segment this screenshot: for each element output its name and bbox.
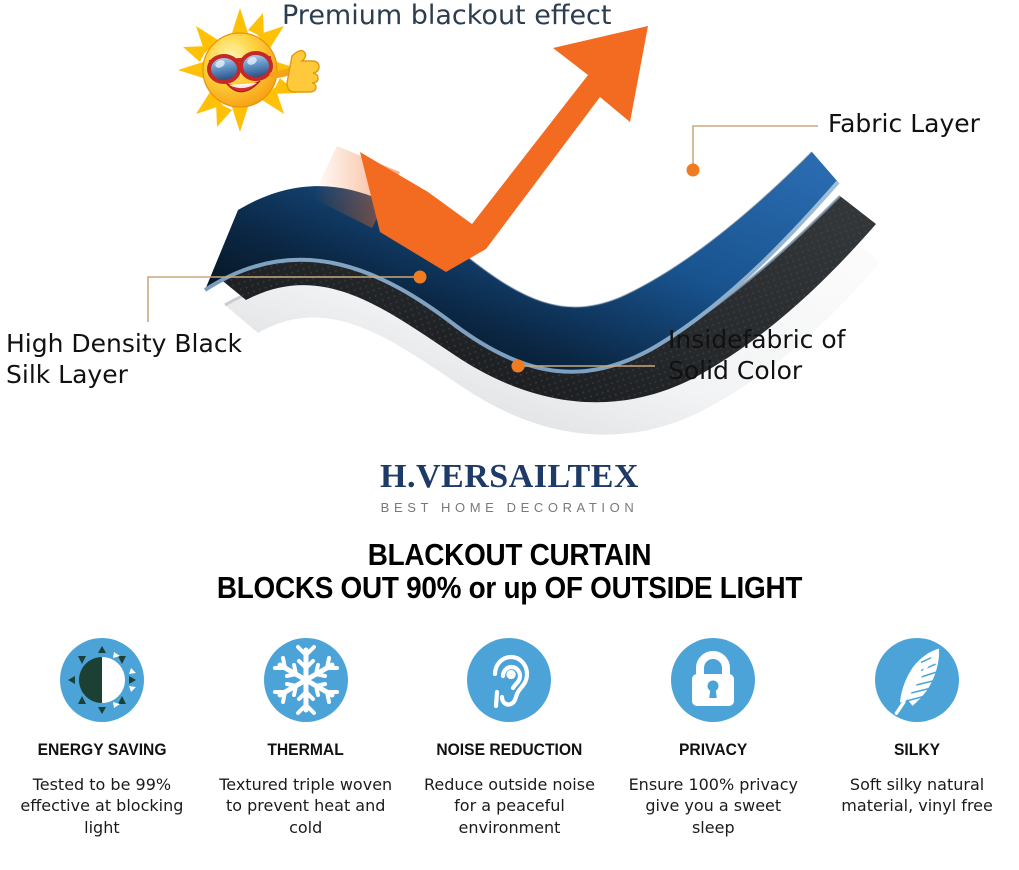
energy-saving-sun-moon-icon [52,630,152,730]
headline: BLACKOUT CURTAIN BLOCKS OUT 90% or up OF… [0,538,1019,605]
callout-inside-fabric: Insidefabric of Solid Color [668,324,928,387]
feature-desc-silky: Soft silky natural material, vinyl free [827,774,1007,817]
feature-title-noise-reduction: NOISE REDUCTION [436,740,582,760]
callout-silk-layer: High Density Black Silk Layer [6,328,306,391]
feature-item-energy-saving: ENERGY SAVING Tested to be 99% effective… [0,630,204,870]
feather-icon [867,630,967,730]
callout-silk-line2: Silk Layer [6,359,306,390]
headline-line-2: BLOCKS OUT 90% or up OF OUTSIDE LIGHT [51,571,968,604]
feature-desc-energy-saving: Tested to be 99% effective at blocking l… [12,774,192,838]
brand-tagline: BEST HOME DECORATION [0,501,1019,514]
feature-title-privacy: PRIVACY [679,740,747,760]
callout-fabric-layer: Fabric Layer [828,108,980,139]
brand-name: H.VERSAILTEX [0,460,1019,494]
feature-list: ENERGY SAVING Tested to be 99% effective… [0,630,1019,870]
headline-line-1: BLACKOUT CURTAIN [51,538,968,571]
brand-logo: H.VERSAILTEX BEST HOME DECORATION [0,460,1019,514]
callout-silk-line1: High Density Black [6,328,306,359]
feature-desc-thermal: Textured triple woven to prevent heat an… [216,774,396,838]
padlock-icon [663,630,763,730]
callout-inside-line2: Solid Color [668,355,928,386]
feature-desc-noise-reduction: Reduce outside noise for a peaceful envi… [419,774,599,838]
infographic-page: Premium blackout effect Fabric Layer Hig… [0,0,1019,870]
feature-title-energy-saving: ENERGY SAVING [37,740,166,760]
feature-item-silky: SILKY Soft silky natural material, vinyl… [815,630,1019,870]
premium-blackout-title: Premium blackout effect [282,0,682,31]
feature-item-noise-reduction: NOISE REDUCTION Reduce outside noise for… [408,630,612,870]
feature-title-thermal: THERMAL [267,740,343,760]
marker-dot-silk [414,271,427,284]
marker-dot-inside [512,360,525,373]
feature-item-thermal: THERMAL Textured triple woven to prevent… [204,630,408,870]
snowflake-icon [256,630,356,730]
marker-dot-fabric [687,164,700,177]
ear-icon [459,630,559,730]
callout-inside-line1: Insidefabric of [668,324,928,355]
feature-desc-privacy: Ensure 100% privacy give you a sweet sle… [623,774,803,838]
fabric-layers-diagram: Premium blackout effect Fabric Layer Hig… [0,0,1019,440]
feature-item-privacy: PRIVACY Ensure 100% privacy give you a s… [611,630,815,870]
feature-title-silky: SILKY [894,740,940,760]
